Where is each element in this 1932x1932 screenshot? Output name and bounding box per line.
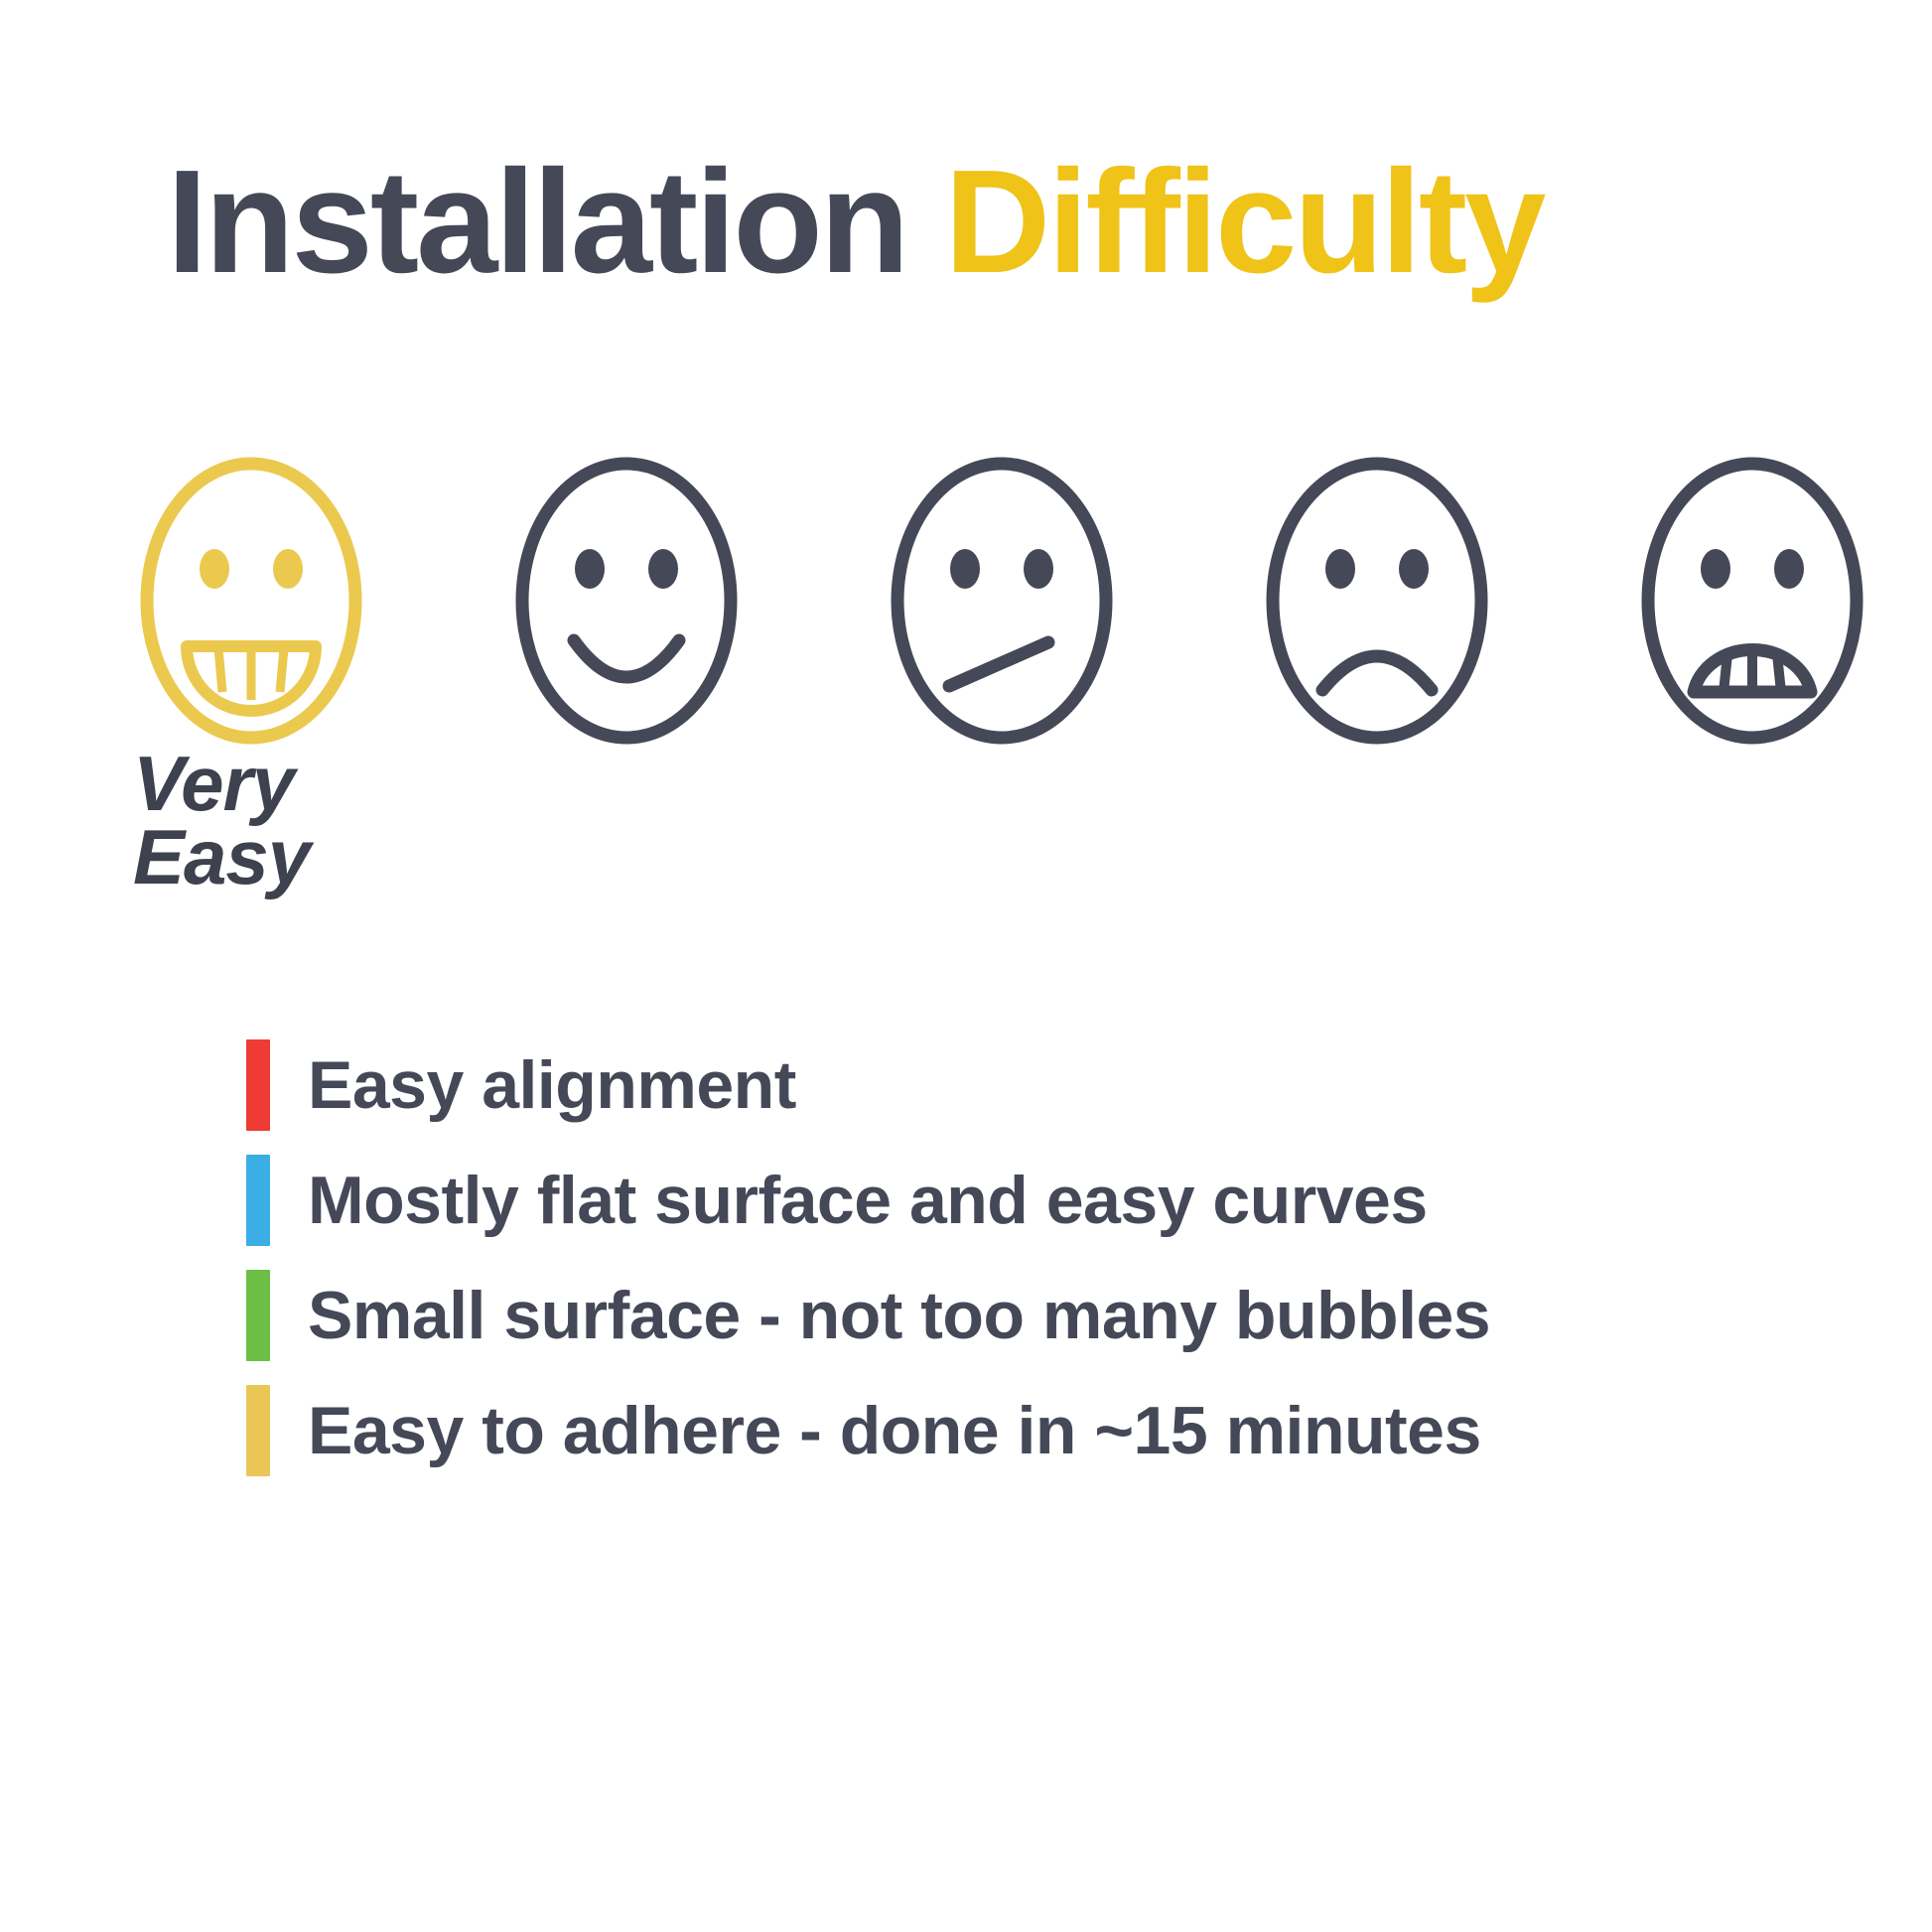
face-sad-frown-icon[interactable]: [1253, 452, 1501, 750]
list-item: Small surface - not too many bubbles: [246, 1258, 1735, 1373]
rating-label-line-1: Very: [133, 747, 461, 820]
list-item: Mostly flat surface and easy curves: [246, 1143, 1735, 1258]
bullet-color-bar: [246, 1385, 270, 1476]
difficulty-rating-scale: [127, 452, 1874, 750]
bullet-label: Mostly flat surface and easy curves: [308, 1167, 1428, 1234]
face-grimace-icon[interactable]: [1628, 452, 1876, 750]
bullet-label: Easy alignment: [308, 1051, 796, 1119]
bullet-label: Easy to adhere - done in ~15 minutes: [308, 1397, 1481, 1464]
bullet-color-bar: [246, 1155, 270, 1246]
page-title-primary: Installation: [167, 140, 906, 304]
list-item: Easy alignment: [246, 1028, 1735, 1143]
bullet-label: Small surface - not too many bubbles: [308, 1282, 1490, 1349]
list-item: Easy to adhere - done in ~15 minutes: [246, 1373, 1735, 1488]
bullet-color-bar: [246, 1039, 270, 1131]
page-title: Installation Difficulty: [167, 136, 1543, 310]
feature-bullet-list: Easy alignment Mostly flat surface and e…: [246, 1028, 1735, 1488]
face-neutral-icon[interactable]: [878, 452, 1126, 750]
bullet-color-bar: [246, 1270, 270, 1361]
page-title-accent: Difficulty: [944, 140, 1543, 304]
face-very-happy-grin-icon[interactable]: [127, 452, 375, 750]
rating-label-line-2: Easy: [133, 820, 461, 894]
face-happy-smile-icon[interactable]: [502, 452, 751, 750]
selected-rating-label: Very Easy: [133, 747, 461, 894]
